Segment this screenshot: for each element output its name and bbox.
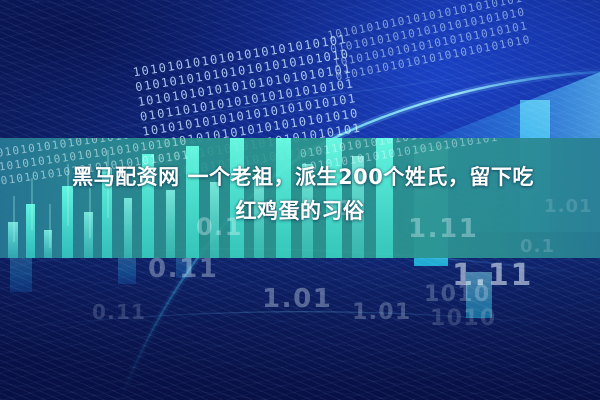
bar-blue [118, 258, 136, 284]
bar-blue [10, 258, 32, 292]
bar-blue [176, 258, 192, 278]
bar-blue [466, 272, 492, 318]
image-canvas: 1010101010101010101010101 01010101010101… [0, 0, 600, 400]
binary-row: 0101101010101010101010101 [299, 138, 497, 162]
binary-row: 1010101010101010101010101 [0, 138, 187, 162]
headline-line-2: 红鸡蛋的习俗 [0, 194, 600, 228]
headline-block: 黑马配资网 一个老祖，派生200个姓氏，留下吃 红鸡蛋的习俗 [0, 160, 600, 228]
headline-line-1: 黑马配资网 一个老祖，派生200个姓氏，留下吃 [0, 160, 600, 194]
